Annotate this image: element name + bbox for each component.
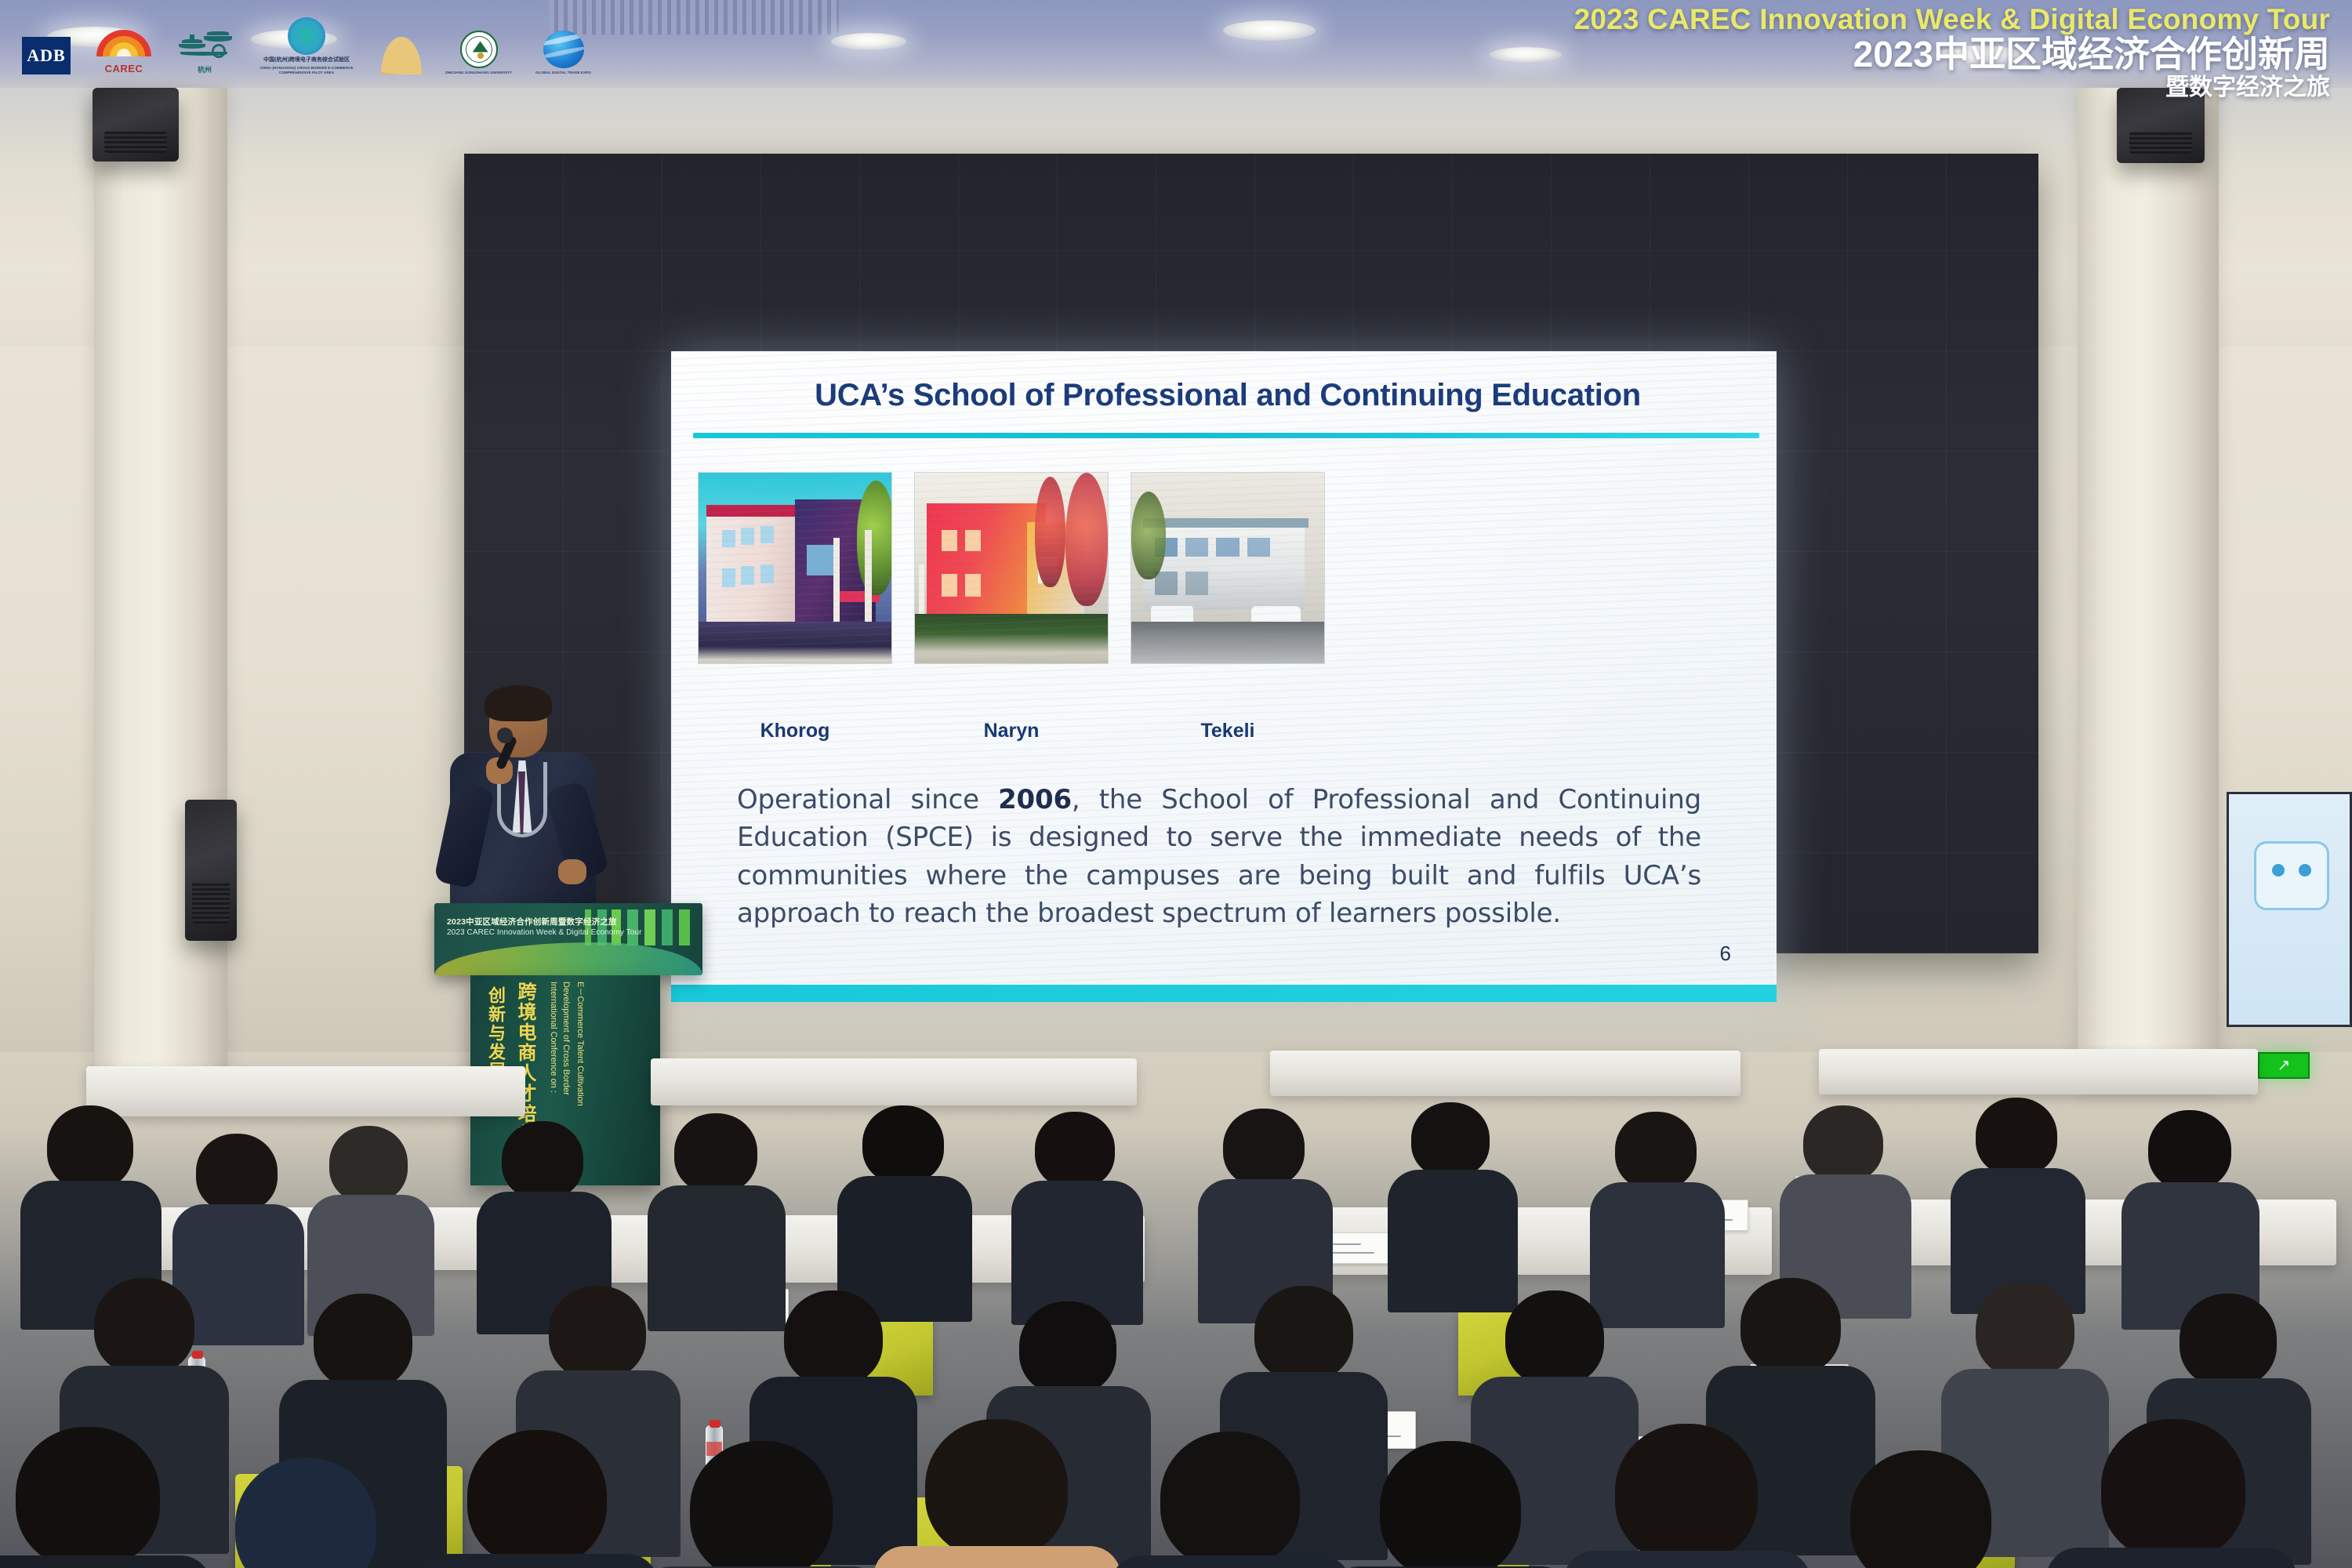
banner-chinese-title-sub: 暨数字经济之旅 — [1574, 74, 2330, 100]
hangzhou-logo-mark — [177, 27, 232, 64]
podium-sign-chinese: 2023中亚区域经济合作创新周暨数字经济之旅 — [447, 916, 617, 927]
presenter-hair — [485, 685, 552, 721]
global-digital-trade-expo-logo: GLOBAL DIGITAL TRADE EXPO — [535, 31, 591, 74]
ceiling-light — [1223, 20, 1316, 41]
pilot-zone-caption: 中国(杭州)跨境电子商务综合试验区 — [263, 57, 350, 64]
photo-cell-khorog — [698, 472, 892, 715]
adb-logo-text: ADB — [27, 45, 65, 66]
photo-cell-naryn — [914, 472, 1109, 715]
gdte-caption: GLOBAL DIGITAL TRADE EXPO — [535, 71, 591, 74]
structural-column-left — [94, 88, 227, 1091]
sponsor-logo-strip: ADB CAREC 杭州 — [22, 17, 591, 74]
slide-body-text: Operational since 2006, the School of Pr… — [737, 781, 1701, 932]
robot-face-icon — [2254, 841, 2329, 910]
slide-photo-row — [698, 472, 1748, 715]
carec-logo: CAREC — [94, 24, 154, 74]
slide-title-underline — [693, 433, 1759, 438]
china-hangzhou-cross-border-ecommerce-pilot-zone-logo: 中国(杭州)跨境电子商务综合试验区 CHINA (HANGZHOU) CROSS… — [256, 17, 358, 74]
conference-table — [86, 1066, 525, 1116]
body-before: Operational since — [737, 784, 998, 815]
conference-table — [1819, 1049, 2258, 1094]
university-seal-mark — [460, 31, 498, 68]
ceiling-light — [831, 33, 906, 50]
adb-logo: ADB — [22, 37, 71, 74]
loudspeaker-left-lower — [185, 800, 237, 941]
pilot-zone-caption-en-text: CHINA (HANGZHOU) CROSS-BORDER E-COMMERCE… — [256, 66, 358, 74]
carec-logo-text: CAREC — [105, 63, 143, 74]
banner-english-title: 2023 CAREC Innovation Week & Digital Eco… — [1574, 5, 2330, 35]
fan-emblem-logo — [381, 37, 422, 74]
hangzhou-city-logo: 杭州 — [177, 27, 232, 74]
photo-cell-tekeli — [1131, 472, 1325, 715]
ceiling-light — [1490, 47, 1562, 63]
conference-table — [1850, 1200, 2336, 1265]
pilot-zone-logo-mark — [288, 17, 325, 55]
banner-chinese-title-main: 2023中亚区域经济合作创新周 — [1574, 35, 2330, 74]
photo-khorog — [698, 472, 892, 664]
ceiling-air-grille — [549, 0, 839, 34]
hangzhou-logo-text: 杭州 — [198, 64, 212, 74]
caption-tekeli: Tekeli — [1131, 720, 1325, 742]
adb-logo-mark: ADB — [22, 37, 71, 74]
fan-logo-mark — [381, 37, 422, 74]
audience-area — [0, 949, 2352, 1568]
slide-title: UCA’s School of Professional and Continu… — [718, 378, 1737, 413]
caption-khorog: Khorog — [698, 720, 892, 742]
slide-caption-row: Khorog Naryn Tekeli — [698, 720, 1748, 742]
event-banner: 2023 CAREC Innovation Week & Digital Eco… — [1574, 5, 2330, 100]
university-caption-en: ZHEJIANG GONGSHANG UNIVERSITY — [445, 71, 512, 74]
pilot-zone-caption-en: CHINA (HANGZHOU) CROSS-BORDER E-COMMERCE… — [256, 66, 358, 74]
conference-hall-scene: UCA’s School of Professional and Continu… — [0, 0, 2352, 1568]
podium-sign-english: 2023 CAREC Innovation Week & Digital Eco… — [447, 928, 642, 937]
university-caption: ZHEJIANG GONGSHANG UNIVERSITY — [445, 71, 512, 74]
carec-logo-mark — [94, 24, 154, 63]
photo-tekeli — [1131, 472, 1325, 664]
caption-naryn: Naryn — [914, 720, 1109, 742]
microphone-head — [497, 728, 513, 743]
structural-column-right — [2078, 88, 2219, 1091]
zhejiang-gongshang-university-logo: ZHEJIANG GONGSHANG UNIVERSITY — [445, 31, 512, 74]
conference-table — [651, 1058, 1137, 1105]
conference-table — [1270, 1051, 1740, 1096]
skyline-graphic — [580, 909, 698, 946]
loudspeaker-left — [93, 88, 179, 162]
body-highlight-year: 2006 — [998, 784, 1072, 815]
photo-naryn — [914, 472, 1109, 664]
presenter-person — [441, 690, 621, 925]
gdte-logo-mark — [543, 31, 584, 68]
presenter-hand-right — [558, 859, 586, 884]
presentation-slide: UCA’s School of Professional and Continu… — [671, 351, 1777, 1002]
gdte-caption-en: GLOBAL DIGITAL TRADE EXPO — [535, 71, 591, 74]
